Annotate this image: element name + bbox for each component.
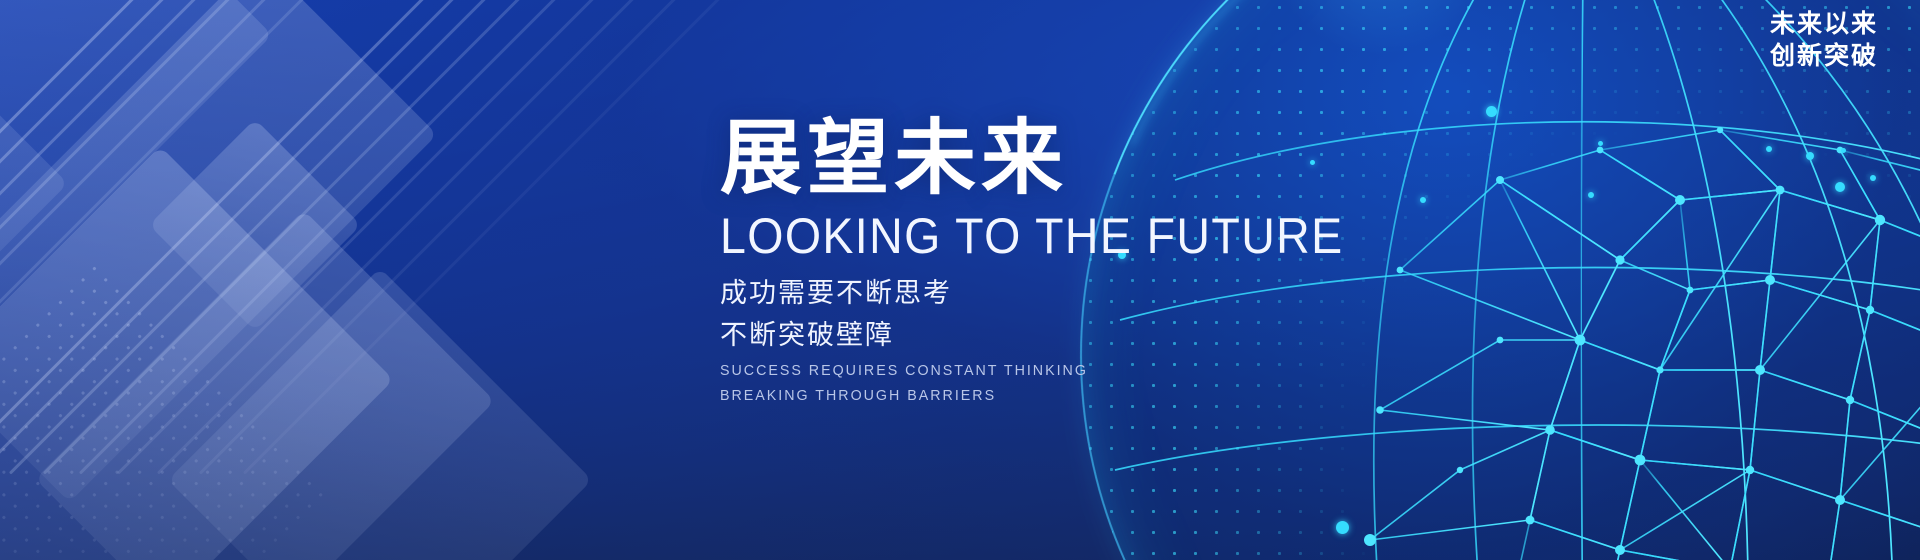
floating-dot (1336, 521, 1349, 534)
floating-dot (1870, 175, 1876, 181)
floating-dot (1588, 192, 1594, 198)
corner-slogan: 未来以来 创新突破 (1770, 8, 1878, 72)
diagonal-geometry-graphic (0, 0, 760, 560)
subtitle-cn-line2: 不断突破壁障 (720, 317, 1480, 353)
floating-dot (1766, 146, 1772, 152)
subtitle-en-line1: SUCCESS REQUIRES CONSTANT THINKING (720, 359, 1442, 383)
subtitle-en-line2: BREAKING THROUGH BARRIERS (720, 384, 1442, 408)
page-title: 展望未来 (720, 118, 1480, 200)
floating-dot (1598, 141, 1603, 146)
hero-banner: 展望未来 LOOKING TO THE FUTURE 成功需要不断思考 不断突破… (0, 0, 1920, 560)
corner-slogan-line2: 创新突破 (1770, 40, 1878, 72)
floating-dot (1841, 148, 1846, 153)
page-title-en: LOOKING TO THE FUTURE (720, 210, 1427, 263)
subtitle-cn-line1: 成功需要不断思考 (720, 275, 1480, 311)
corner-slogan-line1: 未来以来 (1770, 8, 1878, 40)
floating-dot (1486, 106, 1497, 117)
floating-dot (1835, 182, 1845, 192)
headline-block: 展望未来 LOOKING TO THE FUTURE 成功需要不断思考 不断突破… (720, 118, 1480, 408)
floating-dot (1806, 152, 1814, 160)
